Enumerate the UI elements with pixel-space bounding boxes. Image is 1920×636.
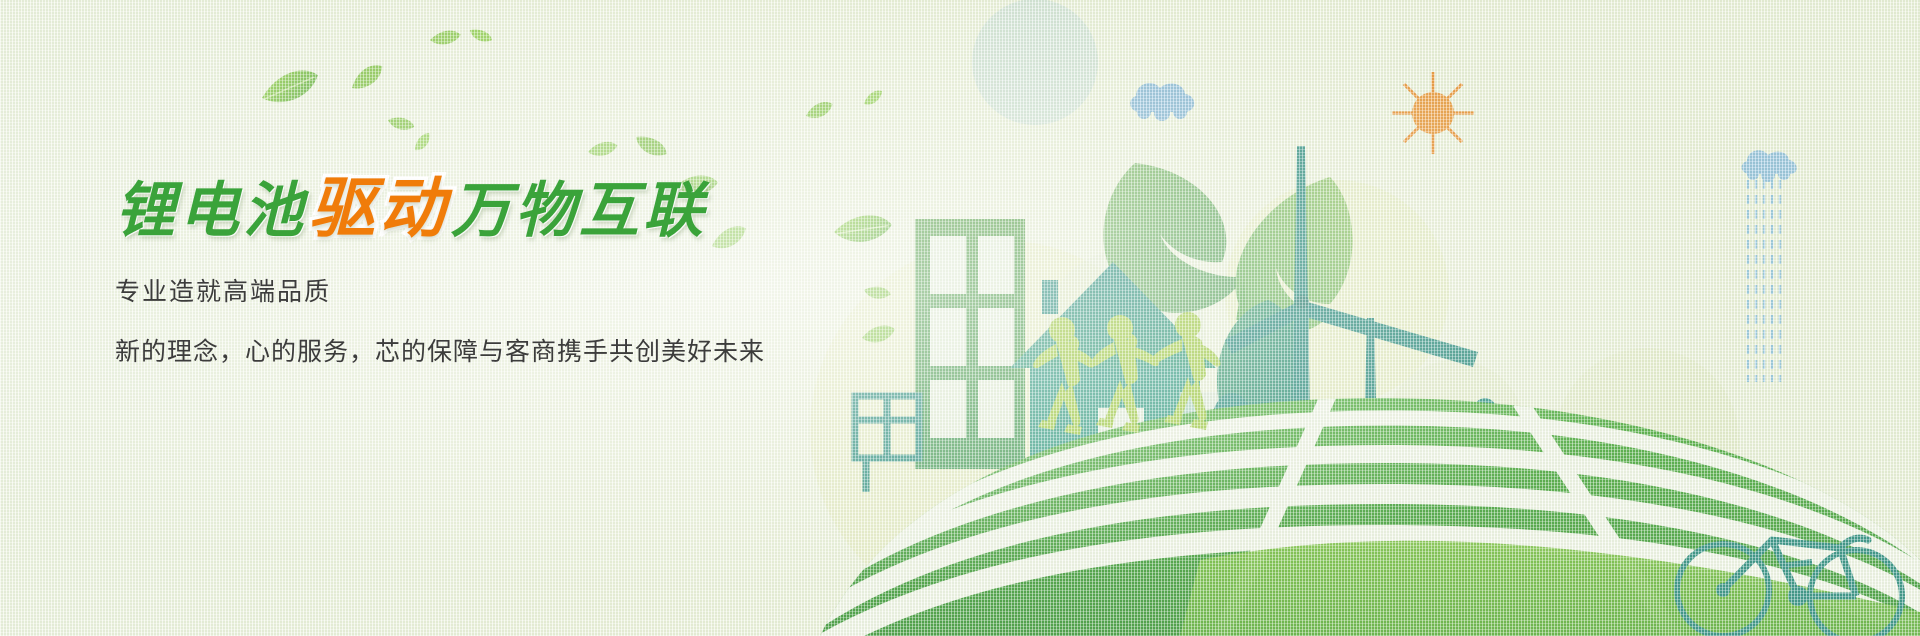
- page-title: 锂电池驱动万物互联: [115, 176, 875, 242]
- flying-leaf: [587, 138, 620, 160]
- hero-text-block: 锂电池驱动万物互联 专业造就高端品质 新的理念，心的服务，芯的保障与客商携手共创…: [115, 176, 875, 368]
- rain-streaks: [1748, 180, 1780, 382]
- flying-leaf: [804, 97, 836, 123]
- subtitle-line-2: 新的理念，心的服务，芯的保障与客商携手共创美好未来: [115, 332, 875, 368]
- bicycle-hub: [1716, 583, 1730, 597]
- flying-leaf: [412, 130, 433, 154]
- sun-disc: [1412, 92, 1454, 134]
- flying-leaf: [258, 62, 323, 113]
- subtitle-line-1: 专业造就高端品质: [115, 272, 875, 308]
- apartment-building: [915, 219, 1025, 469]
- flying-leaf: [429, 27, 462, 48]
- cloud-icon: [1130, 83, 1194, 121]
- flying-leaf: [387, 116, 415, 131]
- bicycle-crank: [1788, 586, 1808, 606]
- headline-segment-1: 锂电池: [115, 176, 307, 246]
- flying-leaf: [632, 132, 670, 160]
- teal-circle: [972, 0, 1098, 125]
- headline-segment-3: 万物互联: [451, 176, 707, 246]
- headline-segment-2: 驱动: [309, 170, 449, 247]
- flying-leaf: [468, 27, 494, 45]
- flying-leaf: [348, 59, 386, 96]
- hero-banner: 锂电池驱动万物互联 专业造就高端品质 新的理念，心的服务，芯的保障与客商携手共创…: [0, 0, 1920, 636]
- flying-leaf: [862, 87, 885, 108]
- rain-cloud-icon: [1742, 150, 1797, 382]
